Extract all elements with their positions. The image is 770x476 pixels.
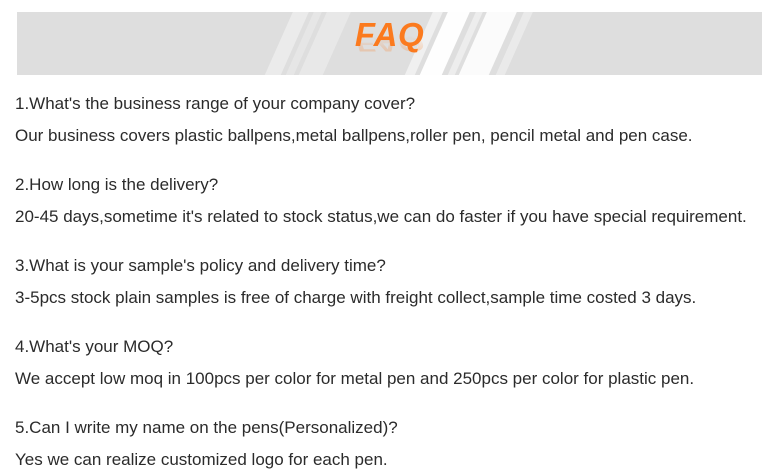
faq-item: 1.What's the business range of your comp… — [15, 88, 760, 152]
banner-title-wrap: FAQ FAQ — [17, 18, 762, 51]
faq-answer: Yes we can realize customized logo for e… — [15, 444, 760, 476]
faq-item: 2.How long is the delivery? 20-45 days,s… — [15, 169, 760, 233]
page-title: FAQ — [355, 18, 424, 51]
faq-question: 2.How long is the delivery? — [15, 169, 760, 201]
faq-question: 3.What is your sample's policy and deliv… — [15, 250, 760, 282]
faq-list: 1.What's the business range of your comp… — [15, 88, 760, 476]
faq-item: 5.Can I write my name on the pens(Person… — [15, 412, 760, 476]
faq-answer: Our business covers plastic ballpens,met… — [15, 120, 760, 152]
faq-question: 4.What's your MOQ? — [15, 331, 760, 363]
faq-item: 4.What's your MOQ? We accept low moq in … — [15, 331, 760, 395]
faq-item: 3.What is your sample's policy and deliv… — [15, 250, 760, 314]
faq-answer: 20-45 days,sometime it's related to stoc… — [15, 201, 760, 233]
faq-question: 1.What's the business range of your comp… — [15, 88, 760, 120]
faq-question: 5.Can I write my name on the pens(Person… — [15, 412, 760, 444]
faq-answer: 3-5pcs stock plain samples is free of ch… — [15, 282, 760, 314]
faq-banner: FAQ FAQ — [17, 12, 762, 75]
faq-answer: We accept low moq in 100pcs per color fo… — [15, 363, 760, 395]
